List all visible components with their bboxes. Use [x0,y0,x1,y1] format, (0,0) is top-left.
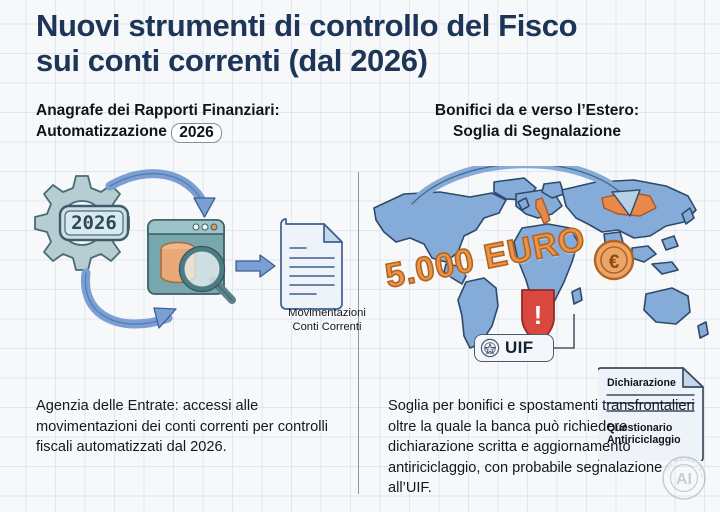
right-panel-heading: Bonifici da e verso l’Estero: Soglia di … [372,100,702,142]
title-line-1: Nuovi strumenti di controllo del Fisco [36,8,577,43]
left-panel-illustration: 2026 [28,168,358,353]
left-heading-line-1: Anagrafe dei Rapporti Finanziari: [36,102,280,119]
uif-connector-line [554,314,574,348]
alert-exclamation: ! [534,300,543,330]
uif-label: UIF [505,338,534,358]
left-panel-caption: Agenzia delle Entrate: accessi alle movi… [36,396,346,458]
browser-database-icon [148,220,232,300]
document-icon [281,219,342,309]
page-title: Nuovi strumenti di controllo del Fisco s… [36,8,696,78]
year-badge: 2026 [171,123,221,143]
euro-coin-icon: € [592,238,636,282]
infographic-canvas: Nuovi strumenti di controllo del Fisco s… [0,0,720,512]
right-heading-line-2: Soglia di Segnalazione [453,123,621,140]
italian-emblem-icon [480,338,500,358]
svg-text:€: € [609,252,620,273]
title-line-2: sui conti correnti (dal 2026) [36,43,696,78]
right-panel-illustration: ! 5.000 EURO € [366,166,714,378]
gear-year-text: 2026 [71,212,117,234]
document-caption-line-2: Conti Correnti [292,321,361,333]
doc-title-dichiarazione: Dichiarazione [607,377,676,389]
right-heading-line-1: Bonifici da e verso l’Estero: [435,102,639,119]
watermark-text: AI [676,471,692,488]
uif-badge: UIF [474,334,554,362]
arrow-to-document [236,255,275,277]
document-caption-line-1: Movimentazioni [288,307,366,319]
left-panel-heading: Anagrafe dei Rapporti Finanziari: Automa… [36,100,346,142]
ai-generated-watermark: GENERATED AI [658,452,710,504]
gear-year-display: 2026 [60,206,128,240]
left-heading-line-2: Automatizzazione [36,123,167,140]
